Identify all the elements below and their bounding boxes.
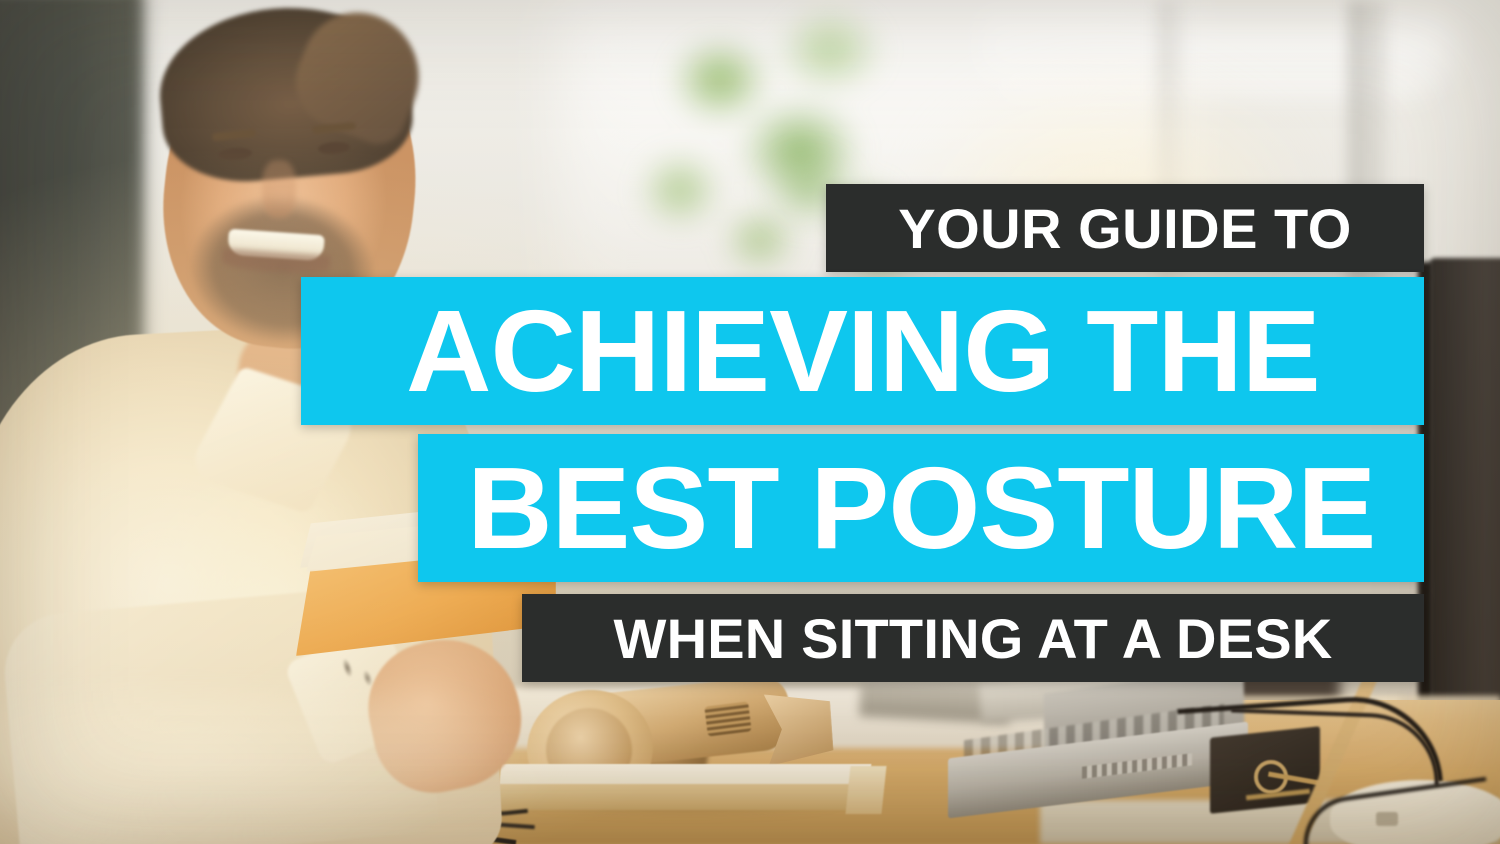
banner-canvas: YOUR GUIDE TO ACHIEVING THE BEST POSTURE… xyxy=(0,0,1500,844)
title-line-2-text: ACHIEVING THE xyxy=(406,284,1320,418)
title-line-1-text: YOUR GUIDE TO xyxy=(898,196,1352,261)
title-overlay: YOUR GUIDE TO ACHIEVING THE BEST POSTURE… xyxy=(0,0,1500,844)
title-line-4-text: WHEN SITTING AT A DESK xyxy=(614,606,1333,671)
title-line-1-band: YOUR GUIDE TO xyxy=(826,184,1424,272)
title-line-3-band: BEST POSTURE xyxy=(418,434,1424,582)
title-line-3-text: BEST POSTURE xyxy=(467,441,1375,575)
title-line-4-band: WHEN SITTING AT A DESK xyxy=(522,594,1424,682)
title-line-2-band: ACHIEVING THE xyxy=(301,277,1424,425)
